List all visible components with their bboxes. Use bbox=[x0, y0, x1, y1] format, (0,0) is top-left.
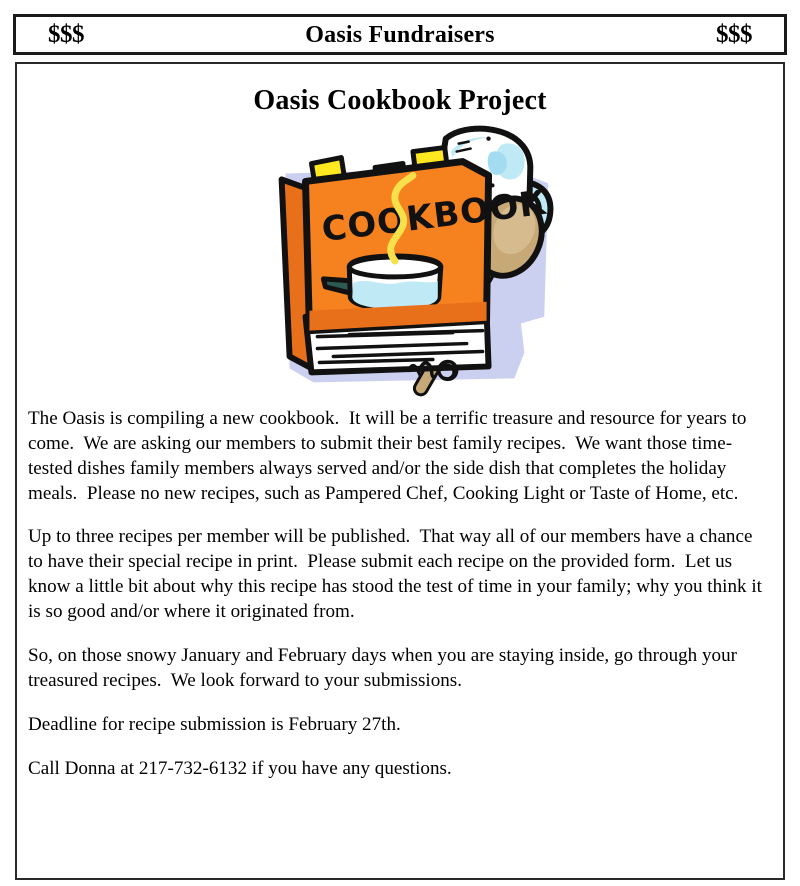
paragraph-deadline: Deadline for recipe submission is Februa… bbox=[28, 713, 772, 738]
paragraph-intro: The Oasis is compiling a new cookbook. I… bbox=[28, 407, 772, 507]
dollar-marks-left: $$$ bbox=[48, 22, 84, 47]
paragraph-call-to-action: So, on those snowy January and February … bbox=[28, 644, 772, 694]
dollar-marks-right: $$$ bbox=[716, 22, 752, 47]
cookbook-illustration: COOKBOOK bbox=[17, 121, 783, 401]
page-title: Oasis Cookbook Project bbox=[17, 86, 783, 117]
body-copy: The Oasis is compiling a new cookbook. I… bbox=[17, 407, 783, 782]
paragraph-submission-rules: Up to three recipes per member will be p… bbox=[28, 525, 772, 625]
header-title: Oasis Fundraisers bbox=[84, 23, 716, 47]
header-banner: $$$ Oasis Fundraisers $$$ bbox=[13, 14, 787, 55]
paragraph-contact: Call Donna at 217-732-6132 if you have a… bbox=[28, 757, 772, 782]
flyer-content-box: Oasis Cookbook Project bbox=[15, 62, 785, 880]
